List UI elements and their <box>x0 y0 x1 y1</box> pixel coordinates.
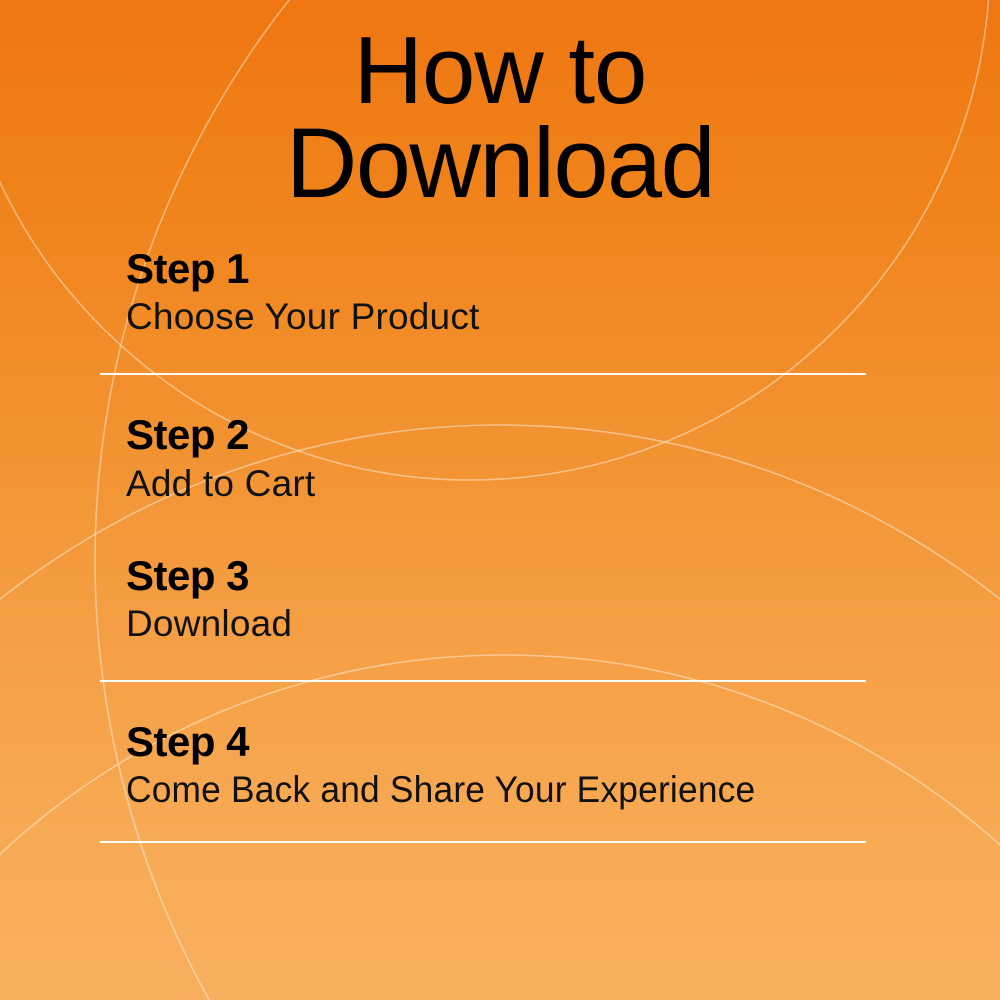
list-item-step-2: Step 2 Add to Cart <box>0 411 1000 503</box>
step-1-label: Step 1 <box>126 245 900 292</box>
list-item-step-1: Step 1 Choose Your Product <box>0 245 1000 337</box>
title-line-1: How to <box>0 26 1000 116</box>
step-4-description: Come Back and Share Your Experience <box>126 769 865 810</box>
step-3-description: Download <box>126 603 900 644</box>
step-4-label: Step 4 <box>126 718 900 765</box>
divider-after-step-4 <box>100 841 866 843</box>
spacer-after-step-3 <box>0 644 1000 680</box>
spacer-after-step-2 <box>0 504 1000 552</box>
steps-list: Step 1 Choose Your Product Step 2 Add to… <box>0 245 1000 843</box>
spacer-before-step-4 <box>0 682 1000 718</box>
spacer-after-step-1 <box>0 337 1000 373</box>
step-1-description: Choose Your Product <box>126 296 900 337</box>
divider-after-step-3 <box>100 680 866 682</box>
step-2-label: Step 2 <box>126 411 900 458</box>
step-2-description: Add to Cart <box>126 463 900 504</box>
list-item-step-3: Step 3 Download <box>0 552 1000 644</box>
page-title: How to Download <box>0 26 1000 209</box>
list-item-step-4: Step 4 Come Back and Share Your Experien… <box>0 718 1000 810</box>
how-to-download-card: How to Download Step 1 Choose Your Produ… <box>0 0 1000 1000</box>
spacer-after-step-4 <box>0 811 1000 841</box>
title-line-2: Download <box>0 116 1000 209</box>
divider-after-step-1 <box>100 373 866 375</box>
step-3-label: Step 3 <box>126 552 900 599</box>
spacer-before-step-2 <box>0 375 1000 411</box>
